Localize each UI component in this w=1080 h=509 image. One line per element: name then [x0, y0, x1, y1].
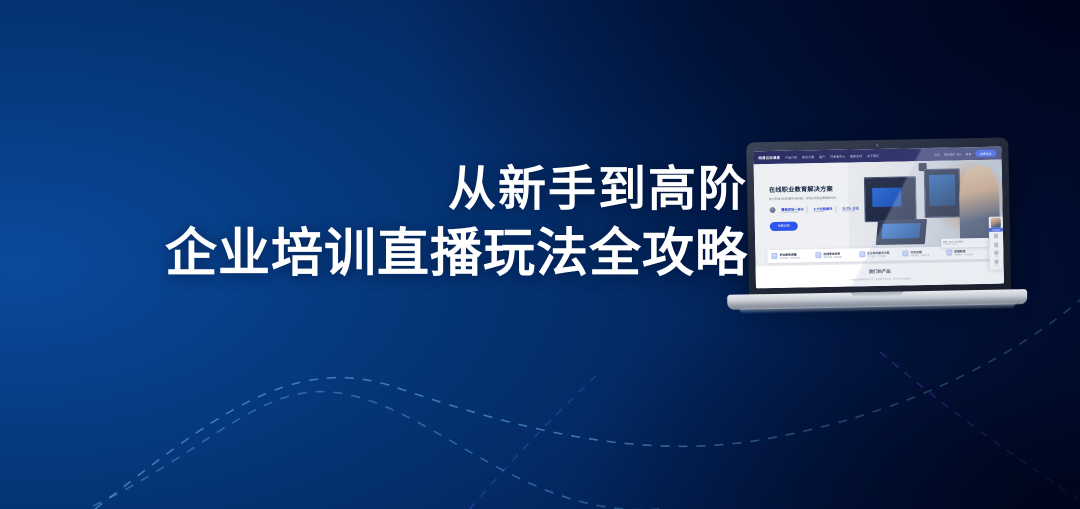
chat-bubble[interactable]: 您好，有什么可以帮您？ 在线客服为您服务	[941, 238, 989, 248]
float-widget-item[interactable]: 文档	[994, 241, 998, 250]
training-icon	[859, 252, 865, 258]
banner-title: 从新手到高阶 企业培训直播玩法全攻略	[48, 158, 748, 288]
hero-stat-0-value: 覆盖领域一体化	[781, 206, 803, 211]
live-icon	[772, 253, 778, 259]
nav-trial-button[interactable]: 免费试用	[975, 150, 996, 158]
float-widget-item[interactable]: 咨询	[994, 232, 998, 241]
feature-card[interactable]: 知识店铺 内容变现 · 课程分销	[903, 249, 944, 257]
hero-heading: 在线职业教育解决方案	[769, 183, 888, 194]
website-preview: 网易云信课堂 产品介绍 解决方案 客户 开发者中心 服务支持 关于我们 中文 联…	[753, 147, 1004, 289]
nav-link-2[interactable]: 客户	[819, 154, 825, 158]
chat-bubble-desc: 在线客服为您服务	[943, 243, 987, 246]
hero-subheading: 助力院校与机构数字化转型，共创在线职业教育新未来	[769, 194, 888, 200]
nav-link-5[interactable]: 关于我们	[867, 153, 879, 157]
feature-card-desc: 录播教学 · 互动白板	[954, 253, 973, 256]
products-section: 我们的产品 一站式在线教育解决方案，覆盖教学全场景，助力机构快速搭建	[756, 261, 1004, 288]
laptop-lid: 网易云信课堂 产品介绍 解决方案 客户 开发者中心 服务支持 关于我们 中文 联…	[746, 137, 1011, 296]
shop-icon	[903, 251, 909, 257]
feature-card-row: 职业教育直播 互动课堂 · 高清低延时 在线考试系统 题库管理 · 智能组卷	[768, 245, 991, 263]
laptop-screen: 网易云信课堂 产品介绍 解决方案 客户 开发者中心 服务支持 关于我们 中文 联…	[753, 147, 1004, 289]
hero-stats: 覆盖领域一体化 One-stop Solution 8 大功能模块 8 Modu…	[769, 204, 888, 214]
nav-link-1[interactable]: 解决方案	[802, 155, 814, 159]
hero-cta-button[interactable]: 免费试用	[770, 221, 798, 231]
float-service-widget[interactable]: 在线咨询 咨询 文档 电话	[989, 217, 1004, 270]
site-logo[interactable]: 网易云信课堂	[758, 155, 780, 160]
feature-card-desc: 内容变现 · 课程分销	[911, 254, 930, 257]
site-nav-utility: 中文 联系我们 400- 登录 免费试用	[934, 150, 996, 158]
nav-login[interactable]: 登录	[966, 152, 972, 156]
feature-card-desc: 互动课堂 · 高清低延时	[780, 257, 801, 260]
float-widget-item-text: 咨询	[994, 238, 997, 240]
site-nav-links: 产品介绍 解决方案 客户 开发者中心 服务支持 关于我们	[785, 153, 879, 159]
products-title: 我们的产品	[869, 269, 891, 275]
float-widget-item[interactable]: 电话	[994, 250, 998, 259]
float-widget-item-text: 电话	[995, 256, 998, 258]
hero-stat-1-value: 8 大功能模块	[814, 205, 833, 210]
hero-stat-2-label: 200K+ Users	[842, 211, 859, 213]
nav-link-4[interactable]: 服务支持	[850, 154, 862, 158]
feature-card-title: 企业培训解决方案	[867, 250, 889, 254]
feature-card[interactable]: 智慧教室 录播教学 · 互动白板	[946, 248, 987, 256]
title-line-1: 从新手到高阶	[48, 158, 748, 220]
exam-icon	[815, 252, 821, 258]
classroom-icon	[946, 250, 952, 256]
hero-stat-1: 8 大功能模块 8 Modules	[811, 205, 837, 213]
products-subtitle: 一站式在线教育解决方案，覆盖教学全场景，助力机构快速搭建	[849, 276, 910, 281]
title-line-2: 企业培训直播玩法全攻略	[48, 220, 748, 288]
float-widget-item-text: 扫码	[995, 265, 998, 267]
hero-stat-1-label: 8 Modules	[814, 211, 833, 213]
feature-card-desc: 题库管理 · 智能组卷	[823, 256, 842, 259]
feature-card-desc: 员工培训 · 学习档案	[867, 255, 889, 258]
nav-lang-switch[interactable]: 中文	[934, 152, 940, 156]
site-hero: 您好，有什么可以帮您？ 在线客服为您服务 在线职业教育解决方案 助力院校与机构数…	[754, 160, 1004, 289]
float-widget-item[interactable]: 扫码	[994, 259, 998, 268]
feature-card[interactable]: 在线考试系统 题库管理 · 智能组卷	[815, 251, 856, 259]
nav-link-3[interactable]: 开发者中心	[830, 154, 845, 158]
laptop-mockup: 网易云信课堂 产品介绍 解决方案 客户 开发者中心 服务支持 关于我们 中文 联…	[724, 137, 1028, 333]
promo-banner: 从新手到高阶 企业培训直播玩法全攻略 网易云信课堂 产品介绍 解决方案 客户 开…	[0, 0, 1080, 509]
nav-contact[interactable]: 联系我们 400-	[944, 152, 962, 156]
hero-stat-0-label: One-stop Solution	[781, 212, 803, 214]
float-widget-item-text: 文档	[995, 247, 998, 249]
play-icon[interactable]	[769, 207, 775, 213]
feature-card[interactable]: 职业教育直播 互动课堂 · 高清低延时	[772, 252, 813, 260]
monitor-secondary	[923, 168, 961, 218]
nav-link-0[interactable]: 产品介绍	[785, 155, 797, 159]
feature-card[interactable]: 企业培训解决方案 员工培训 · 学习档案	[859, 250, 900, 258]
camera-icon	[876, 144, 879, 147]
hero-stat-0: 覆盖领域一体化 One-stop Solution	[778, 206, 807, 214]
avatar	[991, 218, 1001, 228]
hero-stat-2: 20 万+ 企业 200K+ Users	[839, 205, 862, 213]
hero-copy: 在线职业教育解决方案 助力院校与机构数字化转型，共创在线职业教育新未来 覆盖领域…	[769, 183, 889, 233]
hero-stat-2-value: 20 万+ 企业	[842, 205, 859, 210]
